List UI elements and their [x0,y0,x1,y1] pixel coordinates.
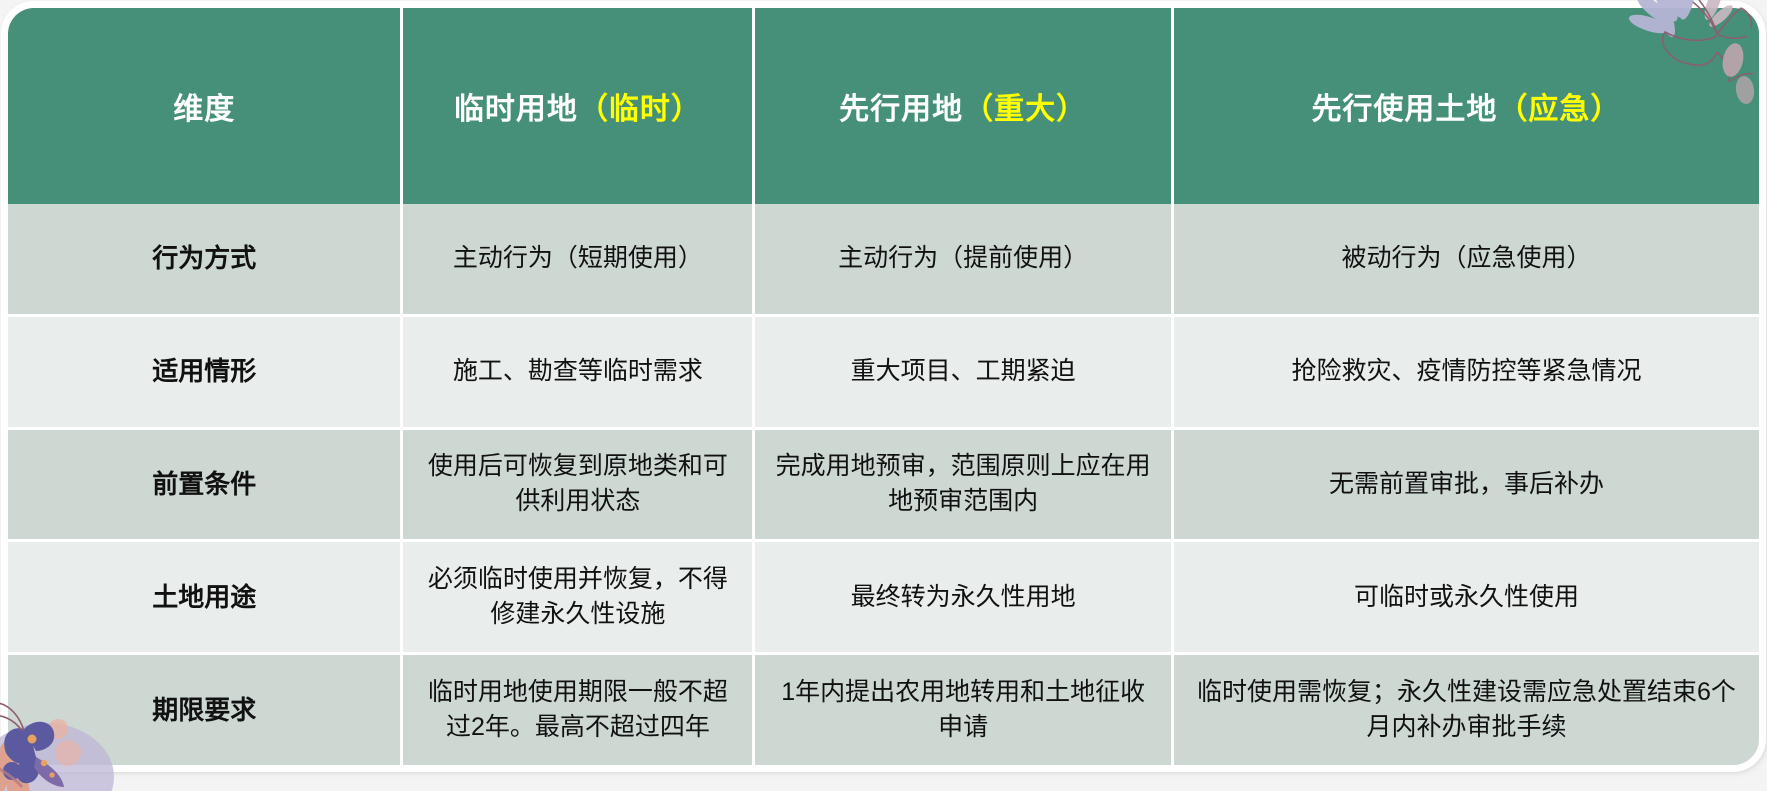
row-cell-emergency: 被动行为（应急使用） [1172,204,1759,315]
row-cell-temporary: 临时用地使用期限一般不超过2年。最高不超过四年 [402,654,754,765]
row-cell-advance: 重大项目、工期紧迫 [754,315,1172,428]
column-header-dimension: 维度 [8,8,402,204]
row-cell-advance: 主动行为（提前使用） [754,204,1172,315]
row-cell-emergency: 抢险救灾、疫情防控等紧急情况 [1172,315,1759,428]
header-highlight-text: （重大） [963,93,1087,126]
row-cell-temporary: 使用后可恢复到原地类和可供利用状态 [402,428,754,541]
header-highlight-text: （应急） [1497,93,1621,126]
row-cell-temporary: 主动行为（短期使用） [402,204,754,315]
row-cell-advance: 完成用地预审，范围原则上应在用地预审范围内 [754,428,1172,541]
row-cell-temporary: 施工、勘查等临时需求 [402,315,754,428]
row-cell-emergency: 临时使用需恢复；永久性建设需应急处置结束6个月内补办审批手续 [1172,654,1759,765]
table-row: 土地用途 必须临时使用并恢复，不得修建永久性设施 最终转为永久性用地 可临时或永… [8,541,1759,654]
row-cell-temporary: 必须临时使用并恢复，不得修建永久性设施 [402,541,754,654]
row-dimension-label: 前置条件 [8,428,402,541]
table-row: 行为方式 主动行为（短期使用） 主动行为（提前使用） 被动行为（应急使用） [8,204,1759,315]
row-dimension-label: 行为方式 [8,204,402,315]
row-dimension-label: 期限要求 [8,654,402,765]
row-dimension-label: 土地用途 [8,541,402,654]
header-main-text: 维度 [173,93,235,126]
header-row: 维度 临时用地（临时） 先行用地（重大） 先行使用土地（应急） [8,8,1759,204]
header-main-text: 先行用地 [839,93,963,126]
column-header-emergency-land: 先行使用土地（应急） [1172,8,1759,204]
row-cell-emergency: 无需前置审批，事后补办 [1172,428,1759,541]
header-highlight-text: （临时） [578,93,702,126]
row-cell-advance: 1年内提出农用地转用和土地征收申请 [754,654,1172,765]
table-row: 前置条件 使用后可恢复到原地类和可供利用状态 完成用地预审，范围原则上应在用地预… [8,428,1759,541]
row-cell-advance: 最终转为永久性用地 [754,541,1172,654]
table-header: 维度 临时用地（临时） 先行用地（重大） 先行使用土地（应急） [8,8,1759,204]
header-main-text: 先行使用土地 [1311,93,1497,126]
header-main-text: 临时用地 [454,93,578,126]
table-row: 期限要求 临时用地使用期限一般不超过2年。最高不超过四年 1年内提出农用地转用和… [8,654,1759,765]
row-dimension-label: 适用情形 [8,315,402,428]
row-cell-emergency: 可临时或永久性使用 [1172,541,1759,654]
table-row: 适用情形 施工、勘查等临时需求 重大项目、工期紧迫 抢险救灾、疫情防控等紧急情况 [8,315,1759,428]
comparison-table-container: 维度 临时用地（临时） 先行用地（重大） 先行使用土地（应急） 行为方式 主动行… [8,8,1759,765]
comparison-table: 维度 临时用地（临时） 先行用地（重大） 先行使用土地（应急） 行为方式 主动行… [8,8,1759,765]
table-body: 行为方式 主动行为（短期使用） 主动行为（提前使用） 被动行为（应急使用） 适用… [8,204,1759,765]
column-header-temporary-land: 临时用地（临时） [402,8,754,204]
column-header-advance-land: 先行用地（重大） [754,8,1172,204]
